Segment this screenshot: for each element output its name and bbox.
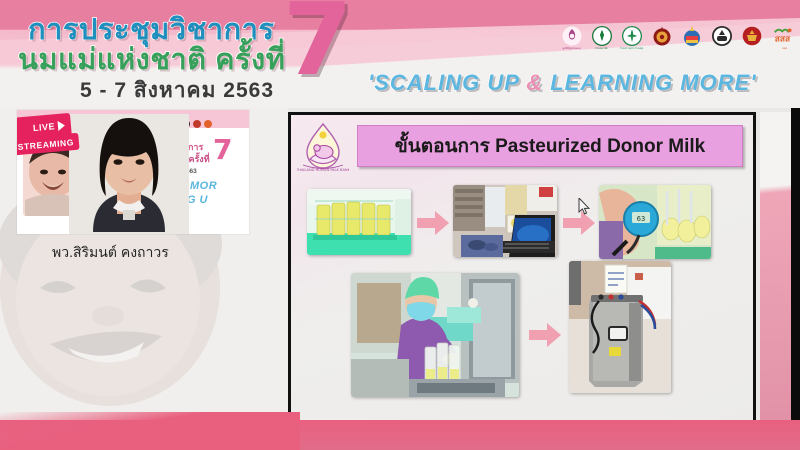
pediatric-society-icon bbox=[742, 26, 762, 46]
conference-edition-number: 7 bbox=[283, 0, 353, 90]
logo-royal-thai-emblem bbox=[650, 26, 673, 57]
arrow-step-1-to-2 bbox=[417, 211, 449, 235]
logo-caption: สสส. bbox=[782, 47, 787, 50]
speaker-name: พว.สิริมนต์ คงถาวร bbox=[52, 242, 288, 264]
photo-laptop-workstation bbox=[453, 185, 557, 257]
logo-caption: กระทรวงสาธารณสุข bbox=[620, 47, 643, 50]
logo-ministry-public-health: กรมอนามัย bbox=[590, 26, 613, 57]
live-video-player[interactable]: การประชุมวิชาการ นมแม่แห่งชาติ ครั้งที่ … bbox=[17, 110, 249, 234]
mouse-cursor bbox=[578, 198, 590, 215]
sponsor-logo-row: มูลนิธิศูนย์นมแม่ กรมอนามัย กระทรวงสาธาร… bbox=[560, 26, 800, 57]
logo-pediatric-society bbox=[740, 26, 763, 57]
slide-title: ขั้นตอนการ Pasteurized Donor Milk bbox=[395, 131, 705, 161]
tagline-suffix: LEARNING MORE' bbox=[543, 70, 756, 95]
svg-text:63: 63 bbox=[637, 215, 645, 223]
human-milk-bank-logo-icon: THAILAND HUMAN MILK BANK bbox=[297, 121, 349, 173]
slide-title-box: ขั้นตอนการ Pasteurized Donor Milk bbox=[357, 125, 743, 167]
nursing-council-icon bbox=[712, 26, 732, 46]
royal-emblem-icon bbox=[652, 26, 672, 46]
breastfeeding-foundation-icon bbox=[562, 26, 582, 46]
presentation-slide: THAILAND HUMAN MILK BANK ขั้นตอนการ Past… bbox=[288, 112, 756, 437]
photo-hand-holding-digital-timer: 63 bbox=[599, 185, 711, 259]
frame-right-black-edge bbox=[791, 108, 800, 450]
unicef-icon bbox=[682, 26, 702, 46]
logo-caption: มูลนิธิศูนย์นมแม่ bbox=[562, 47, 580, 50]
tagline-prefix: 'SCALING UP bbox=[368, 70, 526, 95]
photo-stainless-steel-pasteurizer bbox=[569, 261, 671, 393]
svg-text:สสส: สสส bbox=[775, 34, 791, 44]
logo-caption: กรมอนามัย bbox=[595, 47, 608, 50]
poster-edition-number: 7 bbox=[213, 136, 232, 164]
speaker-video-feed bbox=[69, 114, 189, 234]
ministry-health-icon bbox=[592, 26, 612, 46]
streaming-badge-label: STREAMING bbox=[17, 137, 74, 152]
logo-thaihealth-sss: สสส สสส. bbox=[770, 26, 800, 57]
photo-nurse-handling-milk-bottles bbox=[351, 273, 519, 397]
conference-dates: 5 - 7 สิงหาคม 2563 bbox=[80, 74, 274, 107]
svg-text:THAILAND HUMAN MILK BANK: THAILAND HUMAN MILK BANK bbox=[297, 168, 349, 172]
screen: การประชุมวิชาการ นมแม่แห่งชาติ ครั้งที่ … bbox=[0, 0, 800, 450]
play-icon bbox=[57, 120, 65, 131]
tagline-ampersand: & bbox=[526, 70, 543, 95]
arrow-step-4-to-5 bbox=[529, 323, 561, 347]
photo-milk-bottles-rack bbox=[307, 189, 411, 255]
speaker-panel: การประชุมวิชาการ นมแม่แห่งชาติ ครั้งที่ … bbox=[0, 108, 288, 450]
department-health-icon bbox=[622, 26, 642, 46]
frame-bottom-pink-gradient bbox=[0, 412, 300, 450]
logo-unicef-thailand bbox=[680, 26, 703, 57]
live-badge-label: LIVE bbox=[33, 121, 56, 133]
thaihealth-icon: สสส bbox=[771, 26, 799, 46]
conference-header-banner: การประชุมวิชาการ นมแม่แห่งชาติ ครั้งที่ … bbox=[0, 0, 800, 108]
logo-thai-breastfeeding-foundation: มูลนิธิศูนย์นมแม่ bbox=[560, 26, 583, 57]
conference-tagline: 'SCALING UP & LEARNING MORE' bbox=[368, 70, 756, 96]
logo-nursing-council bbox=[710, 26, 733, 57]
slide-title-bar: THAILAND HUMAN MILK BANK ขั้นตอนการ Past… bbox=[295, 119, 751, 175]
logo-department-health: กระทรวงสาธารณสุข bbox=[620, 26, 643, 57]
